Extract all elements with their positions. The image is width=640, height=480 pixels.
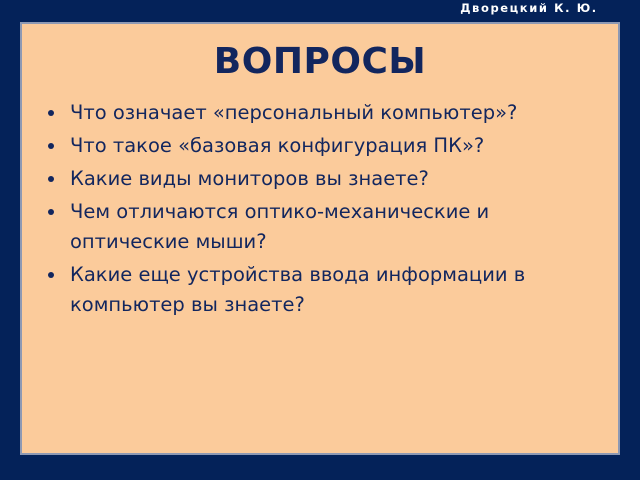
bullet-dot-icon [48,176,54,182]
list-item: Какие виды мониторов вы знаете? [40,164,600,194]
question-text: Чем отличаются оптико-механические и опт… [70,197,600,257]
question-text: Что такое «базовая конфигурация ПК»? [70,131,600,161]
question-list: Что означает «персональный компьютер»? Ч… [22,84,618,320]
question-text: Что означает «персональный компьютер»? [70,98,600,128]
list-item: Какие еще устройства ввода информации в … [40,260,600,320]
list-item: Что означает «персональный компьютер»? [40,98,600,128]
bullet-dot-icon [48,209,54,215]
list-item: Чем отличаются оптико-механические и опт… [40,197,600,257]
page-title: ВОПРОСЫ [22,24,618,84]
bullet-dot-icon [48,272,54,278]
bullet-dot-icon [48,110,54,116]
slide-content-panel: ВОПРОСЫ Что означает «персональный компь… [20,22,620,455]
presentation-slide: Дворецкий К. Ю. ВОПРОСЫ Что означает «пе… [0,0,640,480]
bullet-dot-icon [48,143,54,149]
question-text: Какие виды мониторов вы знаете? [70,164,600,194]
list-item: Что такое «базовая конфигурация ПК»? [40,131,600,161]
author-credit: Дворецкий К. Ю. [424,2,634,15]
question-text: Какие еще устройства ввода информации в … [70,260,600,320]
